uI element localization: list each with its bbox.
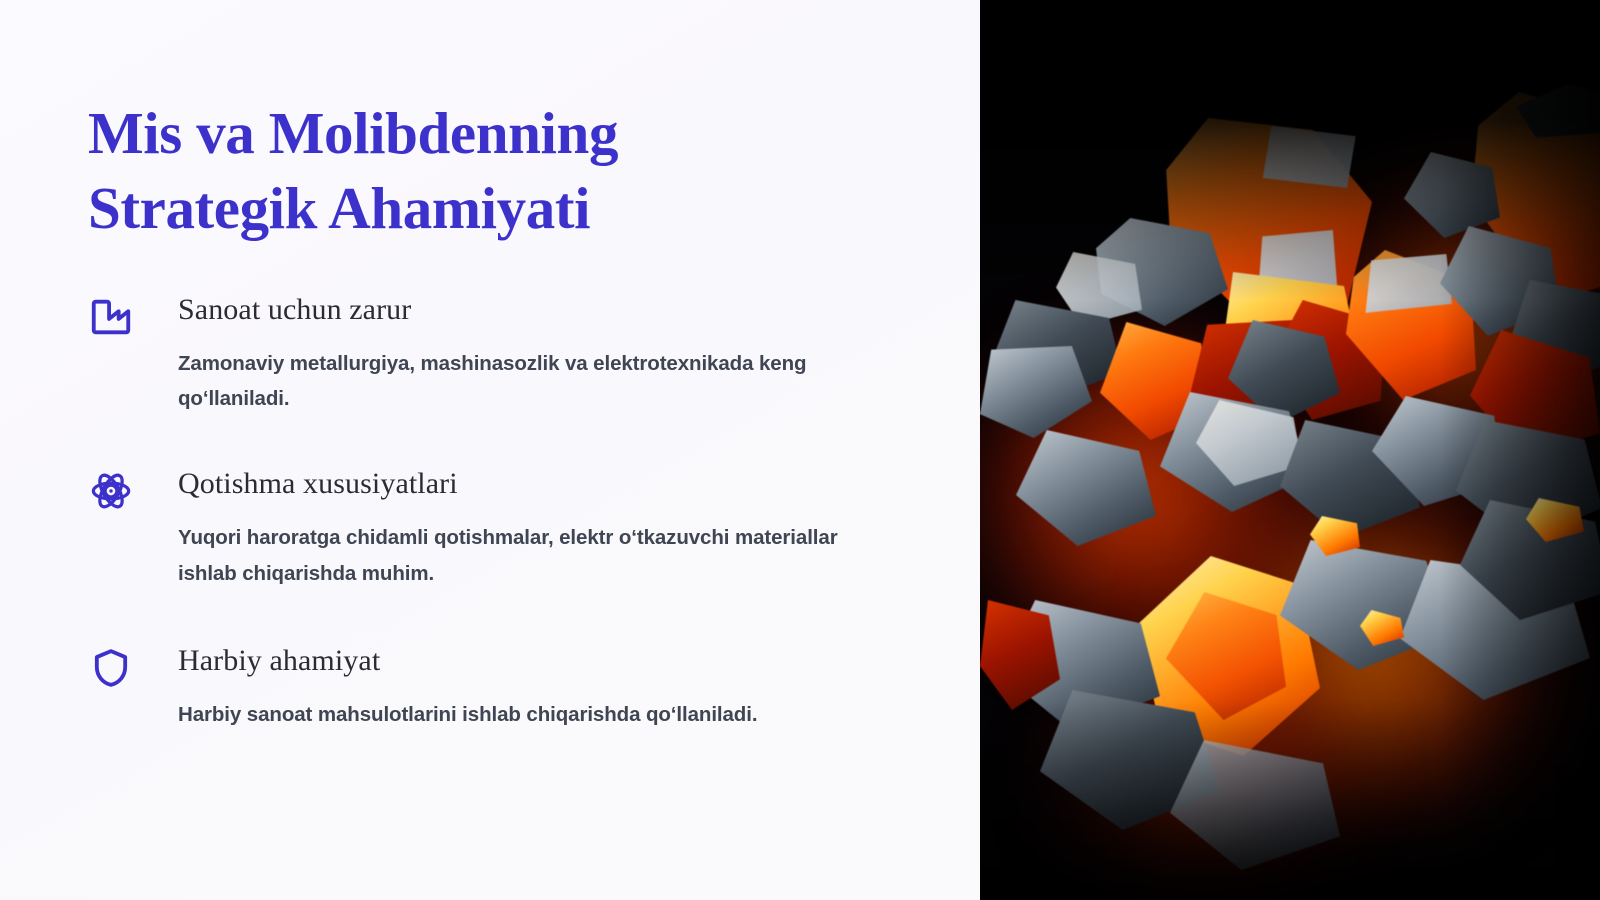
rock-fragment — [1170, 740, 1340, 870]
rock-fragment — [992, 300, 1122, 400]
feature-item-military: Harbiy ahamiyat Harbiy sanoat mahsulotla… — [88, 643, 888, 732]
rock-fragment — [1372, 396, 1502, 506]
crystal-shard — [1346, 250, 1476, 400]
rock-fragment — [1016, 430, 1156, 546]
rock-fragment — [980, 346, 1092, 438]
crystal-shard — [1272, 300, 1390, 420]
crystal-shard — [1358, 254, 1452, 318]
glowing-crystal — [1166, 592, 1286, 720]
feature-list: Sanoat uchun zarur Zamonaviy metallurgiy… — [88, 292, 888, 732]
page-title: Mis va MolibdenningStrategik Ahamiyati — [88, 96, 848, 246]
rock-fragment — [1196, 400, 1302, 486]
ember-speck — [1310, 516, 1360, 556]
atom-icon — [88, 466, 148, 522]
slide-root: Mis va MolibdenningStrategik Ahamiyati S… — [0, 0, 1600, 900]
crystal-shard — [1188, 320, 1308, 438]
rock-fragment — [1510, 84, 1600, 140]
factory-icon — [88, 292, 148, 348]
ember-glow — [1040, 640, 1370, 900]
crystal-shard — [1212, 272, 1362, 412]
feature-body: Harbiy ahamiyat Harbiy sanoat mahsulotla… — [148, 643, 888, 732]
crystal-shard — [1252, 230, 1338, 310]
rock-fragment — [1056, 252, 1142, 326]
crystal-shard — [1100, 322, 1210, 440]
ember-glow — [980, 330, 1340, 660]
crystal-shard — [980, 600, 1060, 710]
rock-fragment — [1510, 280, 1600, 384]
feature-description: Yuqori haroratga chidamli qotishmalar, e… — [178, 520, 878, 591]
feature-body: Qotishma xususiyatlari Yuqori haroratga … — [148, 466, 888, 591]
rock-fragment — [1000, 600, 1160, 730]
shield-icon — [88, 643, 148, 699]
rock-fragment — [1440, 226, 1560, 336]
rock-fragment — [1280, 420, 1420, 538]
feature-title: Qotishma xususiyatlari — [178, 466, 888, 502]
rock-fragment — [1456, 420, 1600, 542]
rock-fragment — [1040, 690, 1220, 830]
content-panel: Mis va MolibdenningStrategik Ahamiyati S… — [0, 0, 980, 900]
feature-description: Harbiy sanoat mahsulotlarini ishlab chiq… — [178, 697, 878, 732]
feature-item-alloy: Qotishma xususiyatlari Yuqori haroratga … — [88, 466, 888, 591]
image-softness-overlay — [980, 0, 1600, 900]
ember-speck — [1360, 610, 1404, 646]
image-vignette-right — [1440, 0, 1600, 900]
mineral-photo — [980, 0, 1600, 900]
image-vignette-top — [980, 0, 1600, 300]
crystal-shard — [1252, 126, 1360, 198]
feature-item-industry: Sanoat uchun zarur Zamonaviy metallurgiy… — [88, 292, 888, 417]
feature-description: Zamonaviy metallurgiya, mashinasozlik va… — [178, 346, 878, 417]
glowing-crystal — [1138, 556, 1320, 756]
feature-title: Harbiy ahamiyat — [178, 643, 888, 679]
rock-fragment — [1400, 560, 1590, 700]
crystal-shard — [1468, 92, 1600, 302]
rock-fragment — [1404, 152, 1500, 238]
title-line-2: Strategik Ahamiyati — [88, 175, 590, 241]
rock-fragment — [1096, 218, 1228, 326]
ember-glow — [1160, 470, 1580, 830]
rock-fragment — [1460, 500, 1600, 620]
ember-glow — [1310, 150, 1600, 480]
image-vignette-bottom — [980, 700, 1600, 900]
title-line-1: Mis va Molibdenning — [88, 100, 618, 166]
ember-speck — [1526, 498, 1584, 542]
rock-fragment — [1228, 320, 1340, 424]
rock-fragment — [1160, 392, 1310, 512]
mineral-scene — [980, 0, 1600, 900]
rock-fragment — [1280, 540, 1450, 670]
feature-title: Sanoat uchun zarur — [178, 292, 888, 328]
crystal-shard — [1470, 330, 1600, 456]
crystal-shard — [1162, 118, 1372, 318]
feature-body: Sanoat uchun zarur Zamonaviy metallurgiy… — [148, 292, 888, 417]
